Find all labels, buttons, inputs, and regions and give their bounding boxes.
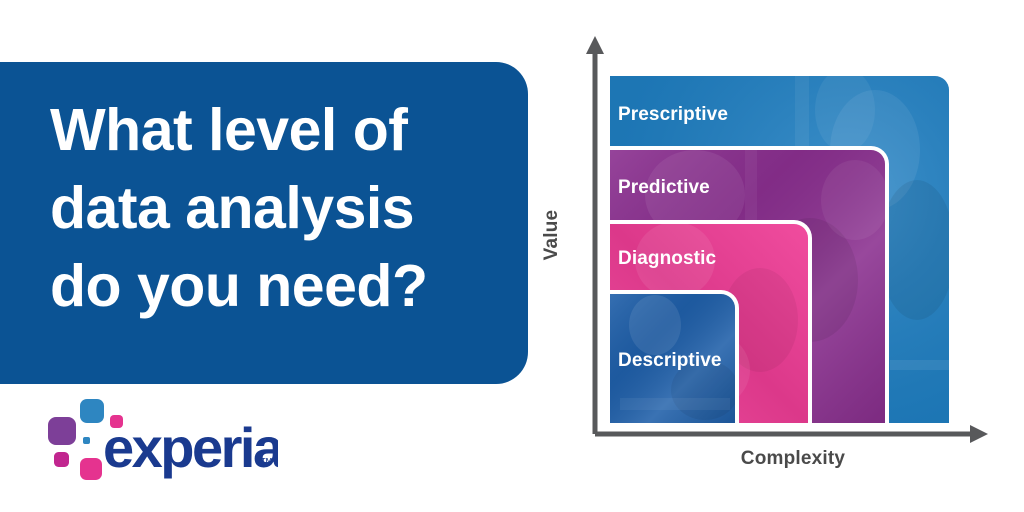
x-axis-arrow: [970, 425, 988, 443]
band-label-descriptive: Descriptive: [618, 350, 722, 372]
y-axis-label: Value: [541, 210, 563, 261]
square-magenta-small: [54, 452, 69, 467]
band-label-predictive: Predictive: [618, 177, 710, 199]
headline-panel: What level of data analysis do you need?: [0, 62, 528, 384]
band-label-diagnostic: Diagnostic: [618, 248, 716, 270]
square-magenta-medium: [80, 458, 102, 480]
analytics-maturity-chart: [545, 20, 1015, 490]
page-title: What level of data analysis do you need?: [50, 92, 510, 326]
logo-trademark: ™: [260, 455, 273, 470]
square-blue-medium: [80, 399, 104, 423]
square-purple-large: [48, 417, 76, 445]
x-axis-label: Complexity: [741, 448, 845, 470]
band-label-prescriptive: Prescriptive: [618, 104, 728, 126]
experian-logo[interactable]: experian ™: [48, 395, 278, 487]
square-blue-dot: [83, 437, 90, 444]
y-axis-arrow: [586, 36, 604, 54]
logo-wordmark: experian: [103, 416, 278, 479]
